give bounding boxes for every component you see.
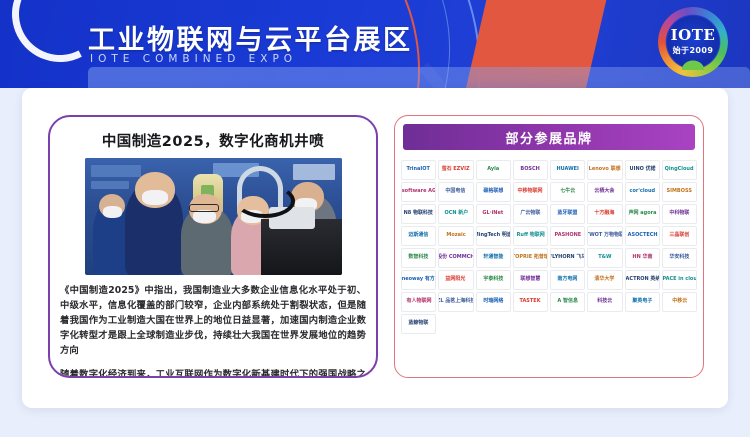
brand-logo-label: 益网阳光 (446, 277, 466, 282)
brand-logo: TWOT 万物物联 (587, 226, 622, 246)
article-paragraph-2: 随着数字化经济到来，工业互联网作为数字化新基建时代下的强国战略之一，数字化和物联… (60, 367, 366, 378)
brand-logo: 聚英电子 (625, 292, 660, 312)
brand-logo: cor'cloud (625, 182, 660, 202)
brand-logo-label: FLYHORN 飞马 (550, 255, 585, 260)
brand-logo: QingCloud (662, 160, 697, 180)
brand-logo-label: 萤石 EZVIZ (442, 167, 470, 172)
brand-logo: 中科物联 (662, 204, 697, 224)
iote-logo-year: 始于2009 (673, 45, 714, 56)
brand-logo-label: SIMBOSS (667, 189, 692, 194)
brand-logo-label: ENACTRON 英纳创 (625, 277, 660, 282)
brand-logo: 蓝牙联盟 (550, 204, 585, 224)
brand-logo-label: ZL 品茗上海科技 (438, 299, 473, 304)
brand-logo-label: 轩通智能 (483, 255, 503, 260)
brand-logo: 七牛云 (550, 182, 585, 202)
brand-logo-label: TrinaIOT (407, 167, 430, 172)
brand-logo-label: UINO 优锘 (629, 167, 655, 172)
brand-logo-label: 时瑞网络 (483, 299, 503, 304)
iote-logo-word: IOTE (671, 28, 716, 43)
brand-logo-label: neoway 有方 (402, 277, 435, 282)
brands-card: 部分参展品牌 TrinaIOT萤石 EZVIZAylaBOSCHHUAWEILe… (394, 115, 704, 378)
brand-logo: Lenovo 联想 (587, 160, 622, 180)
brand-logo-label: 华安科技 (669, 255, 689, 260)
brand-logo-label: T&W (598, 255, 611, 260)
brand-logo: ENACTRON 英纳创 (625, 270, 660, 290)
brand-logo-label: QingCloud (665, 167, 694, 172)
expo-photo (85, 158, 342, 275)
brand-logo-label: software AG (401, 189, 435, 194)
brand-logo: 有人物联网 (401, 292, 436, 312)
brand-logo-label: 达众股份 COMMCHINA (438, 255, 473, 260)
brand-logo-label: 蓝鲸物联 (409, 321, 429, 326)
brand-logo-label: 声网 agora (628, 211, 656, 216)
brand-logo-label: Ruff 物联网 (516, 233, 544, 238)
decorative-blue-strip (88, 67, 750, 88)
brand-logo-label: 七牛云 (560, 189, 575, 194)
brand-logo: MingTech 明途 (476, 226, 511, 246)
brand-logo-label: ASOCTECH (627, 233, 657, 238)
brand-logo: TOPRIE 拓普瑞 (513, 248, 548, 268)
brand-logo-label: TOPRIE 拓普瑞 (513, 255, 548, 260)
brand-logo-grid: TrinaIOT萤石 EZVIZAylaBOSCHHUAWEILenovo 联想… (401, 160, 697, 334)
brand-logo: 三晶联创 (662, 226, 697, 246)
brand-logo-label: 中移物联网 (518, 189, 543, 194)
brand-logo: 数智科技 (401, 248, 436, 268)
brand-logo: ZL 品茗上海科技 (438, 292, 473, 312)
brand-logo: 蓝鲸物联 (401, 314, 436, 334)
brand-logo-label: OCN 新户 (444, 211, 468, 216)
brand-logo: ASOCTECH (625, 226, 660, 246)
brand-logo: FLYHORN 飞马 (550, 248, 585, 268)
brand-logo-label: 十方融海 (595, 211, 615, 216)
article-title: 中国制造2025，数字化商机井喷 (60, 130, 366, 151)
brand-logo: 南方电网 (550, 270, 585, 290)
brand-logo-label: 清华大学 (595, 277, 615, 282)
brand-logo-label: 云栖大会 (595, 189, 615, 194)
brand-logo-label: 中移云 (672, 299, 687, 304)
brand-logo-label: HN 华南 (632, 255, 652, 260)
iote-logo-badge: IOTE 始于2009 (658, 7, 728, 77)
brand-logo: 云栖大会 (587, 182, 622, 202)
brand-logo: Mozaic (438, 226, 473, 246)
brand-logo-label: 三晶联创 (669, 233, 689, 238)
brand-logo: TrinaIOT (401, 160, 436, 180)
brand-logo-label: 迈斯通信 (409, 233, 429, 238)
brand-logo: 宇泰科技 (476, 270, 511, 290)
brand-logo-label: BOSCH (521, 167, 540, 172)
brand-logo-label: PASHONE (554, 233, 581, 238)
brand-logo: OCN 新户 (438, 204, 473, 224)
brand-logo: 轩通智能 (476, 248, 511, 268)
brand-logo: PASHONE (550, 226, 585, 246)
brand-logo: A 智信息 (550, 292, 585, 312)
brand-logo: T&W (587, 248, 622, 268)
brands-card-header: 部分参展品牌 (403, 124, 695, 150)
article-paragraph-1: 《中国制造2025》中指出，我国制造业大多数企业信息化水平处于初、中级水平，信息… (60, 283, 366, 358)
brand-logo-label: TASTEK (520, 299, 541, 304)
brand-logo-label: 聚英电子 (632, 299, 652, 304)
brand-logo: 十方融海 (587, 204, 622, 224)
brand-logo-label: TWOT 万物物联 (587, 233, 622, 238)
photo-eyeglasses (189, 204, 219, 212)
brand-logo: BOSCH (513, 160, 548, 180)
brand-logo-label: Ayla (487, 167, 499, 172)
brand-logo: 迈斯通信 (401, 226, 436, 246)
brand-logo: 声网 agora (625, 204, 660, 224)
photo-face-mask-2 (142, 190, 168, 205)
brand-logo: HN 华南 (625, 248, 660, 268)
photo-machine (261, 219, 342, 275)
brand-logo: N8 物联科技 (401, 204, 436, 224)
brand-logo-label: 蓝牙联盟 (558, 211, 578, 216)
brand-logo-label: 碳格联想 (483, 189, 503, 194)
page-banner: 工业物联网与云平台展区 IOTE COMBINED EXPO IOTE 始于20… (0, 0, 750, 88)
brand-logo: 中移云 (662, 292, 697, 312)
brand-logo: 中国电信 (438, 182, 473, 202)
photo-signage-2 (91, 181, 129, 189)
brand-logo: software AG (401, 182, 436, 202)
brand-logo: 益网阳光 (438, 270, 473, 290)
brand-logo-label: HUAWEI (556, 167, 578, 172)
brand-logo: GL·iNet (476, 204, 511, 224)
photo-signage-1 (91, 165, 141, 177)
photo-face-mask-1 (103, 206, 122, 218)
brand-logo: 华安科技 (662, 248, 697, 268)
brand-logo: 萤石 EZVIZ (438, 160, 473, 180)
brand-logo: HUAWEI (550, 160, 585, 180)
brand-logo-label: 中国电信 (446, 189, 466, 194)
brand-logo: Ayla (476, 160, 511, 180)
brand-logo: 广云物联 (513, 204, 548, 224)
brand-logo-label: GL·iNet (483, 211, 504, 216)
photo-signage-4 (293, 164, 335, 180)
content-panel: 中国制造2025，数字化商机井喷 (22, 88, 728, 408)
brand-logo: Ruff 物联网 (513, 226, 548, 246)
brand-logo-label: SPACE in cloud (662, 277, 697, 282)
brand-logo-label: 中科物联 (669, 211, 689, 216)
brand-logo-label: 联想智慧 (520, 277, 540, 282)
photo-cable (235, 184, 295, 218)
brand-logo-label: A 智信息 (557, 299, 578, 304)
banner-title: 工业物联网与云平台展区 (88, 18, 413, 57)
brand-logo: 清华大学 (587, 270, 622, 290)
brand-logo-label: Lenovo 联想 (589, 167, 621, 172)
brand-logo-label: 南方电网 (558, 277, 578, 282)
brand-logo: SPACE in cloud (662, 270, 697, 290)
brand-logo-label: 数智科技 (409, 255, 429, 260)
brand-logo-label: 科技云 (597, 299, 612, 304)
brand-logo: 达众股份 COMMCHINA (438, 248, 473, 268)
brand-logo-label: cor'cloud (629, 189, 655, 194)
brand-logo: 时瑞网络 (476, 292, 511, 312)
brand-logo-label: 有人物联网 (406, 299, 431, 304)
banner-subtitle: IOTE COMBINED EXPO (90, 53, 297, 65)
brand-logo: 中移物联网 (513, 182, 548, 202)
leaf-icon (680, 59, 706, 70)
brand-logo: UINO 优锘 (625, 160, 660, 180)
brand-logo-label: MingTech 明途 (476, 233, 511, 238)
brand-logo: TASTEK (513, 292, 548, 312)
brand-logo: SIMBOSS (662, 182, 697, 202)
brand-logo-label: N8 物联科技 (404, 211, 433, 216)
brand-logo: neoway 有方 (401, 270, 436, 290)
brand-logo-label: 广云物联 (520, 211, 540, 216)
brand-logo: 联想智慧 (513, 270, 548, 290)
article-card: 中国制造2025，数字化商机井喷 (48, 115, 378, 378)
brand-logo-label: Mozaic (446, 233, 465, 238)
brand-logo: 碳格联想 (476, 182, 511, 202)
brand-logo-label: 宇泰科技 (483, 277, 503, 282)
brand-logo: 科技云 (587, 292, 622, 312)
